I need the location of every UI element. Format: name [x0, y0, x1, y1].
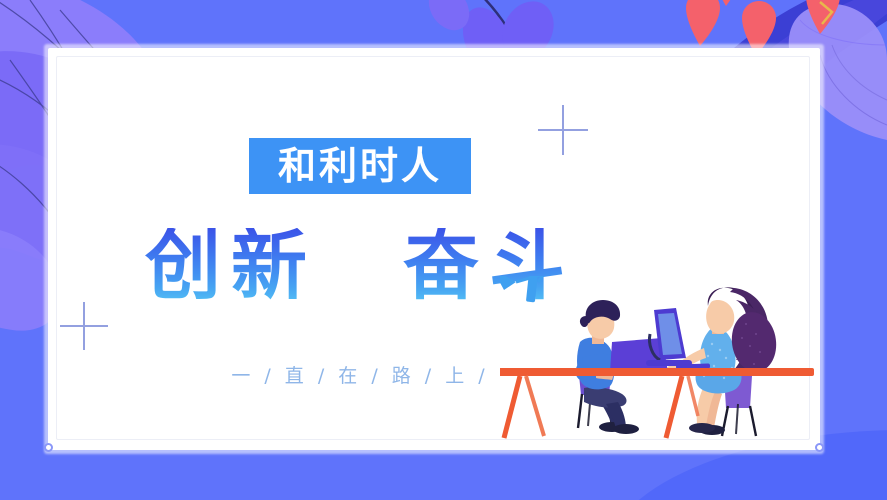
title-badge: 和利时人	[249, 138, 471, 194]
plus-mark-top-right-icon	[538, 105, 588, 155]
desk-icon	[500, 368, 814, 438]
corner-dot-bottom-left	[44, 443, 53, 452]
illustration-two-coworkers-at-desk	[500, 276, 820, 448]
abstract-arrow-icon	[500, 276, 544, 302]
title-badge-label: 和利时人	[278, 147, 442, 185]
plus-mark-left-icon	[60, 302, 108, 350]
slide-canvas: 和利时人 创新 奋斗 一 / 直 / 在 / 路 / 上 /	[0, 0, 887, 500]
